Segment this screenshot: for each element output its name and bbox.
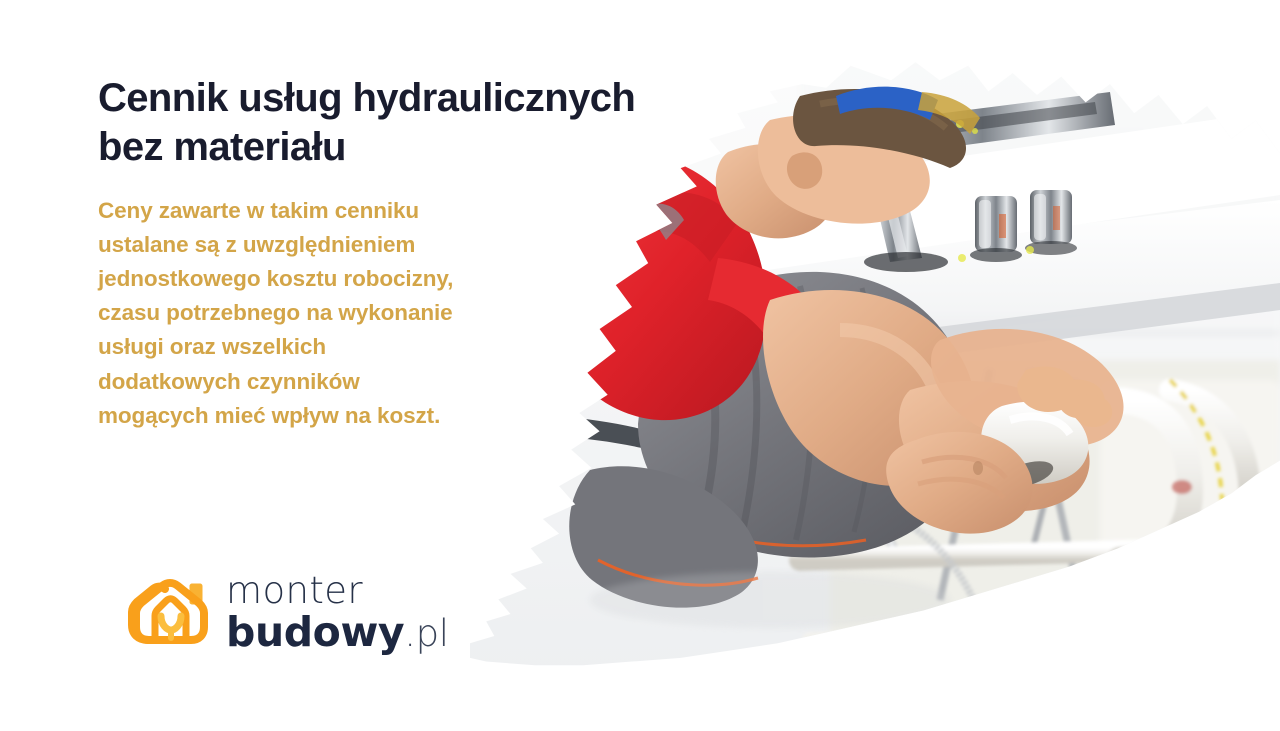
logo-word-budowy: budowy.pl <box>226 612 449 653</box>
promo-banner: Cennik usług hydraulicznych bez materiał… <box>0 0 1280 731</box>
logo-tld: .pl <box>404 612 448 655</box>
logo-budowy-text: budowy <box>226 608 404 656</box>
text-column: Cennik usług hydraulicznych bez materiał… <box>98 74 488 433</box>
headline-line-2: bez materiału <box>98 123 488 172</box>
logo-wordmark: monter budowy.pl <box>226 572 449 653</box>
house-smile-icon <box>126 576 212 650</box>
lead-paragraph: Ceny zawarte w takim cenniku ustalane są… <box>98 194 473 433</box>
monterbudowy-logo[interactable]: monter budowy.pl <box>126 572 449 653</box>
headline-line-1: Cennik usług hydraulicznych <box>98 74 488 123</box>
logo-word-monter: monter <box>226 572 449 609</box>
page-title: Cennik usług hydraulicznych bez materiał… <box>98 74 488 172</box>
